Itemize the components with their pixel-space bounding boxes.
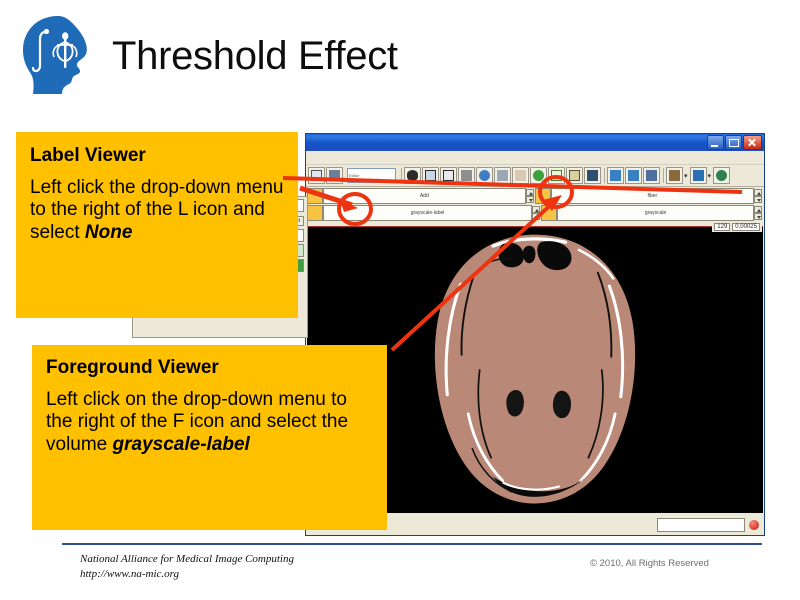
fiducial-icon[interactable] — [512, 167, 529, 184]
page-title: Threshold Effect — [112, 34, 398, 79]
na-mic-head-logo — [18, 14, 94, 98]
footer-divider — [62, 543, 762, 545]
slice-number: 129 — [714, 223, 730, 231]
toolbar-separator — [663, 168, 664, 183]
error-icon[interactable] — [749, 520, 759, 530]
chevron-down-icon[interactable]: ▾ — [684, 172, 688, 180]
layout-icon[interactable] — [308, 167, 325, 184]
warn-icon[interactable] — [440, 167, 457, 184]
label-viewer-icon[interactable] — [307, 188, 323, 204]
slide-canvas: Threshold Effect Editor — [0, 0, 800, 600]
foreground-viewer-icon[interactable] — [535, 188, 551, 204]
grid-icon[interactable] — [643, 167, 660, 184]
close-button[interactable] — [743, 135, 762, 150]
mouse-icon[interactable] — [666, 167, 683, 184]
find-icon[interactable] — [404, 167, 421, 184]
footer-org-line2: http://www.na-mic.org — [80, 567, 294, 582]
foreground-left-combo[interactable]: grayscale-label — [323, 205, 532, 221]
callout-emphasis: None — [85, 222, 133, 243]
chevron-down-icon[interactable]: ▾ — [708, 172, 712, 180]
callout-body: Left click the drop-down menu to the rig… — [30, 177, 284, 244]
snapshot-icon[interactable] — [326, 167, 343, 184]
ruler-icon[interactable] — [548, 167, 565, 184]
background-viewer-icon[interactable] — [541, 205, 557, 221]
module-search-input[interactable]: Editor — [347, 168, 396, 183]
volume-icon[interactable] — [458, 167, 475, 184]
callout-foreground-viewer: Foreground Viewer Left click on the drop… — [32, 345, 387, 530]
callout-heading: Label Viewer — [30, 145, 284, 167]
maximize-button[interactable] — [725, 135, 742, 150]
callout-heading: Foreground Viewer — [46, 357, 373, 379]
label-left-combo[interactable]: Add — [323, 188, 526, 204]
save-icon[interactable] — [566, 167, 583, 184]
window-icon[interactable] — [584, 167, 601, 184]
footer-org: National Alliance for Medical Image Comp… — [80, 552, 294, 582]
right-spinner-2[interactable] — [754, 206, 762, 220]
label-spinner[interactable] — [526, 189, 534, 203]
callout-body-text: Left click the drop-down menu to the rig… — [30, 177, 283, 243]
selector-row-foreground: grayscale-label grayscale — [307, 205, 763, 221]
undo-icon[interactable] — [607, 167, 624, 184]
selector-row-label: Add fiber — [307, 188, 763, 204]
voxel-value: 0.00025 — [732, 223, 760, 231]
callout-body: Left click on the drop-down menu to the … — [46, 389, 373, 456]
foreground-right-combo[interactable]: grayscale — [557, 205, 754, 221]
toolbar-separator — [604, 168, 605, 183]
person-icon[interactable] — [690, 167, 707, 184]
callout-label-viewer: Label Viewer Left click the drop-down me… — [16, 132, 298, 318]
viewer-selectors: Add fiber grayscale-label grayscale — [306, 187, 764, 221]
foreground-spinner[interactable] — [532, 206, 540, 220]
footer-copyright: © 2010, All Rights Reserved — [590, 558, 709, 569]
minimize-button[interactable] — [707, 135, 724, 150]
right-spinner[interactable] — [754, 189, 762, 203]
check-icon[interactable] — [530, 167, 547, 184]
menu-strip[interactable] — [306, 151, 764, 165]
footer-org-line1: National Alliance for Medical Image Comp… — [80, 552, 294, 567]
window-titlebar — [306, 134, 764, 151]
main-toolbar: Editor ▾ ▾ — [306, 165, 764, 187]
paint-icon[interactable] — [494, 167, 511, 184]
toolbar-separator — [401, 168, 402, 183]
home-icon[interactable] — [422, 167, 439, 184]
refresh-icon[interactable] — [713, 167, 730, 184]
label-right-combo[interactable]: fiber — [551, 188, 754, 204]
label-layer-icon[interactable] — [307, 205, 323, 221]
status-input[interactable] — [657, 518, 745, 532]
redo-icon[interactable] — [625, 167, 642, 184]
globe-icon[interactable] — [476, 167, 493, 184]
callout-emphasis: grayscale-label — [113, 434, 250, 455]
slice-readout: 129 0.00025 — [712, 222, 762, 232]
